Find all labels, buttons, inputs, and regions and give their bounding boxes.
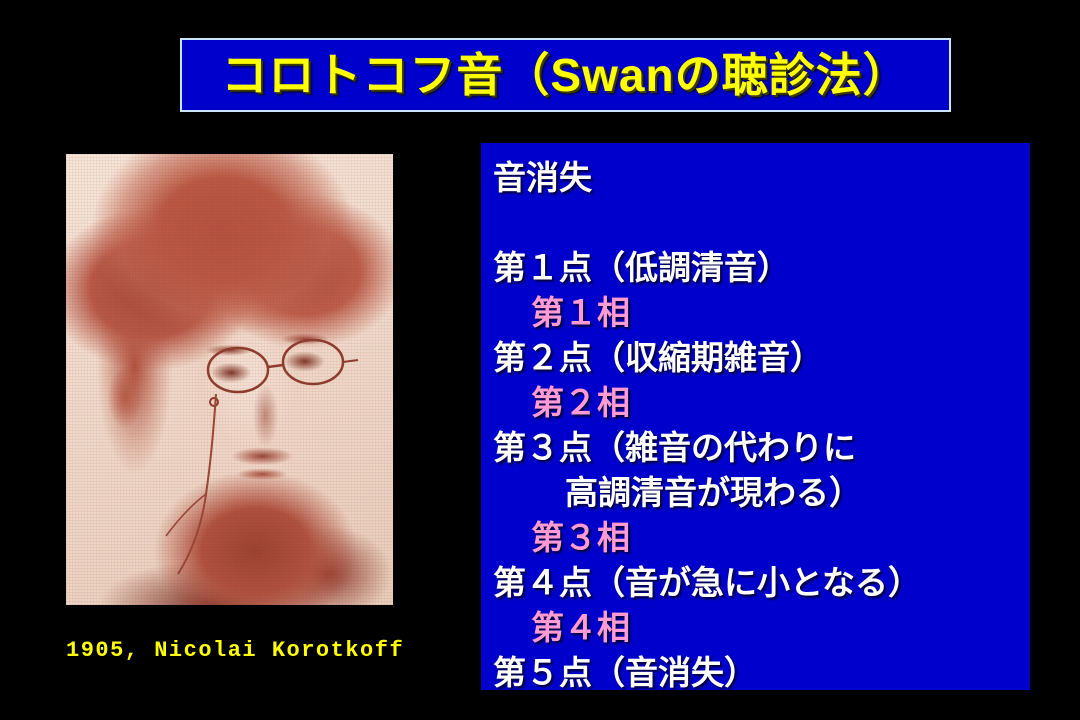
content-line: 第３相 <box>493 515 1030 560</box>
content-line: 第２点（収縮期雑音） <box>493 335 1030 380</box>
portrait-caption: 1905, Nicolai Korotkoff <box>66 638 393 663</box>
content-line: 音消失 <box>493 155 1030 200</box>
content-line: 第１相 <box>493 290 1030 335</box>
content-panel: 音消失第１点（低調清音）第１相第２点（収縮期雑音）第２相第３点（雑音の代わりに高… <box>481 143 1030 690</box>
content-line: 第３点（雑音の代わりに <box>493 425 1030 470</box>
content-line: 高調清音が現わる） <box>493 470 1030 515</box>
portrait-image <box>66 154 393 605</box>
content-line: 第２相 <box>493 380 1030 425</box>
slide-title-banner: コロトコフ音（Swanの聴診法） <box>180 38 951 112</box>
content-line: 第４点（音が急に小となる） <box>493 560 1030 605</box>
content-line: 第１点（低調清音） <box>493 245 1030 290</box>
content-line: 第５点（音消失） <box>493 650 1030 690</box>
content-spacer <box>493 200 1030 245</box>
page-title: コロトコフ音（Swanの聴診法） <box>221 52 909 98</box>
photo-grain-overlay <box>66 154 393 605</box>
content-line: 第４相 <box>493 605 1030 650</box>
